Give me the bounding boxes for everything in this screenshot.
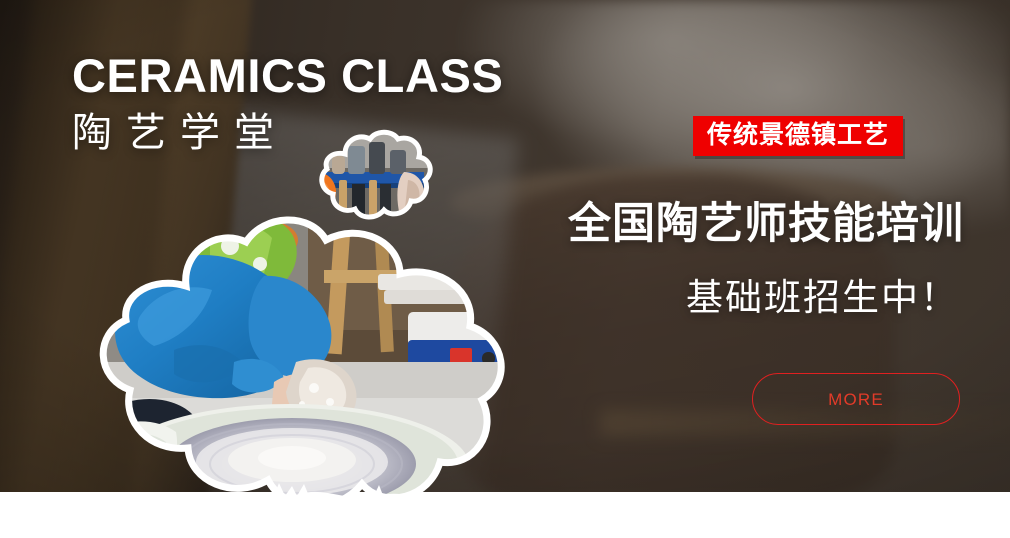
sub-copy-line: 基础班招生中！ (686, 279, 959, 316)
ceramics-class-banner: CERAMICS CLASS 陶艺学堂 (0, 0, 1010, 538)
tradition-badge-label: 传统景德镇工艺 (707, 123, 889, 148)
headline-english: CERAMICS CLASS (72, 52, 503, 99)
more-button[interactable]: MORE (752, 373, 960, 425)
headline-chinese: 陶艺学堂 (72, 113, 503, 153)
main-copy-line: 全国陶艺师技能培训 (568, 203, 964, 246)
tradition-badge: 传统景德镇工艺 (693, 116, 903, 156)
child-at-wheel-image (78, 212, 534, 522)
more-button-label: MORE (828, 391, 884, 408)
child-at-wheel-cloud-photo (78, 212, 534, 522)
headline-block: CERAMICS CLASS 陶艺学堂 (72, 52, 503, 153)
